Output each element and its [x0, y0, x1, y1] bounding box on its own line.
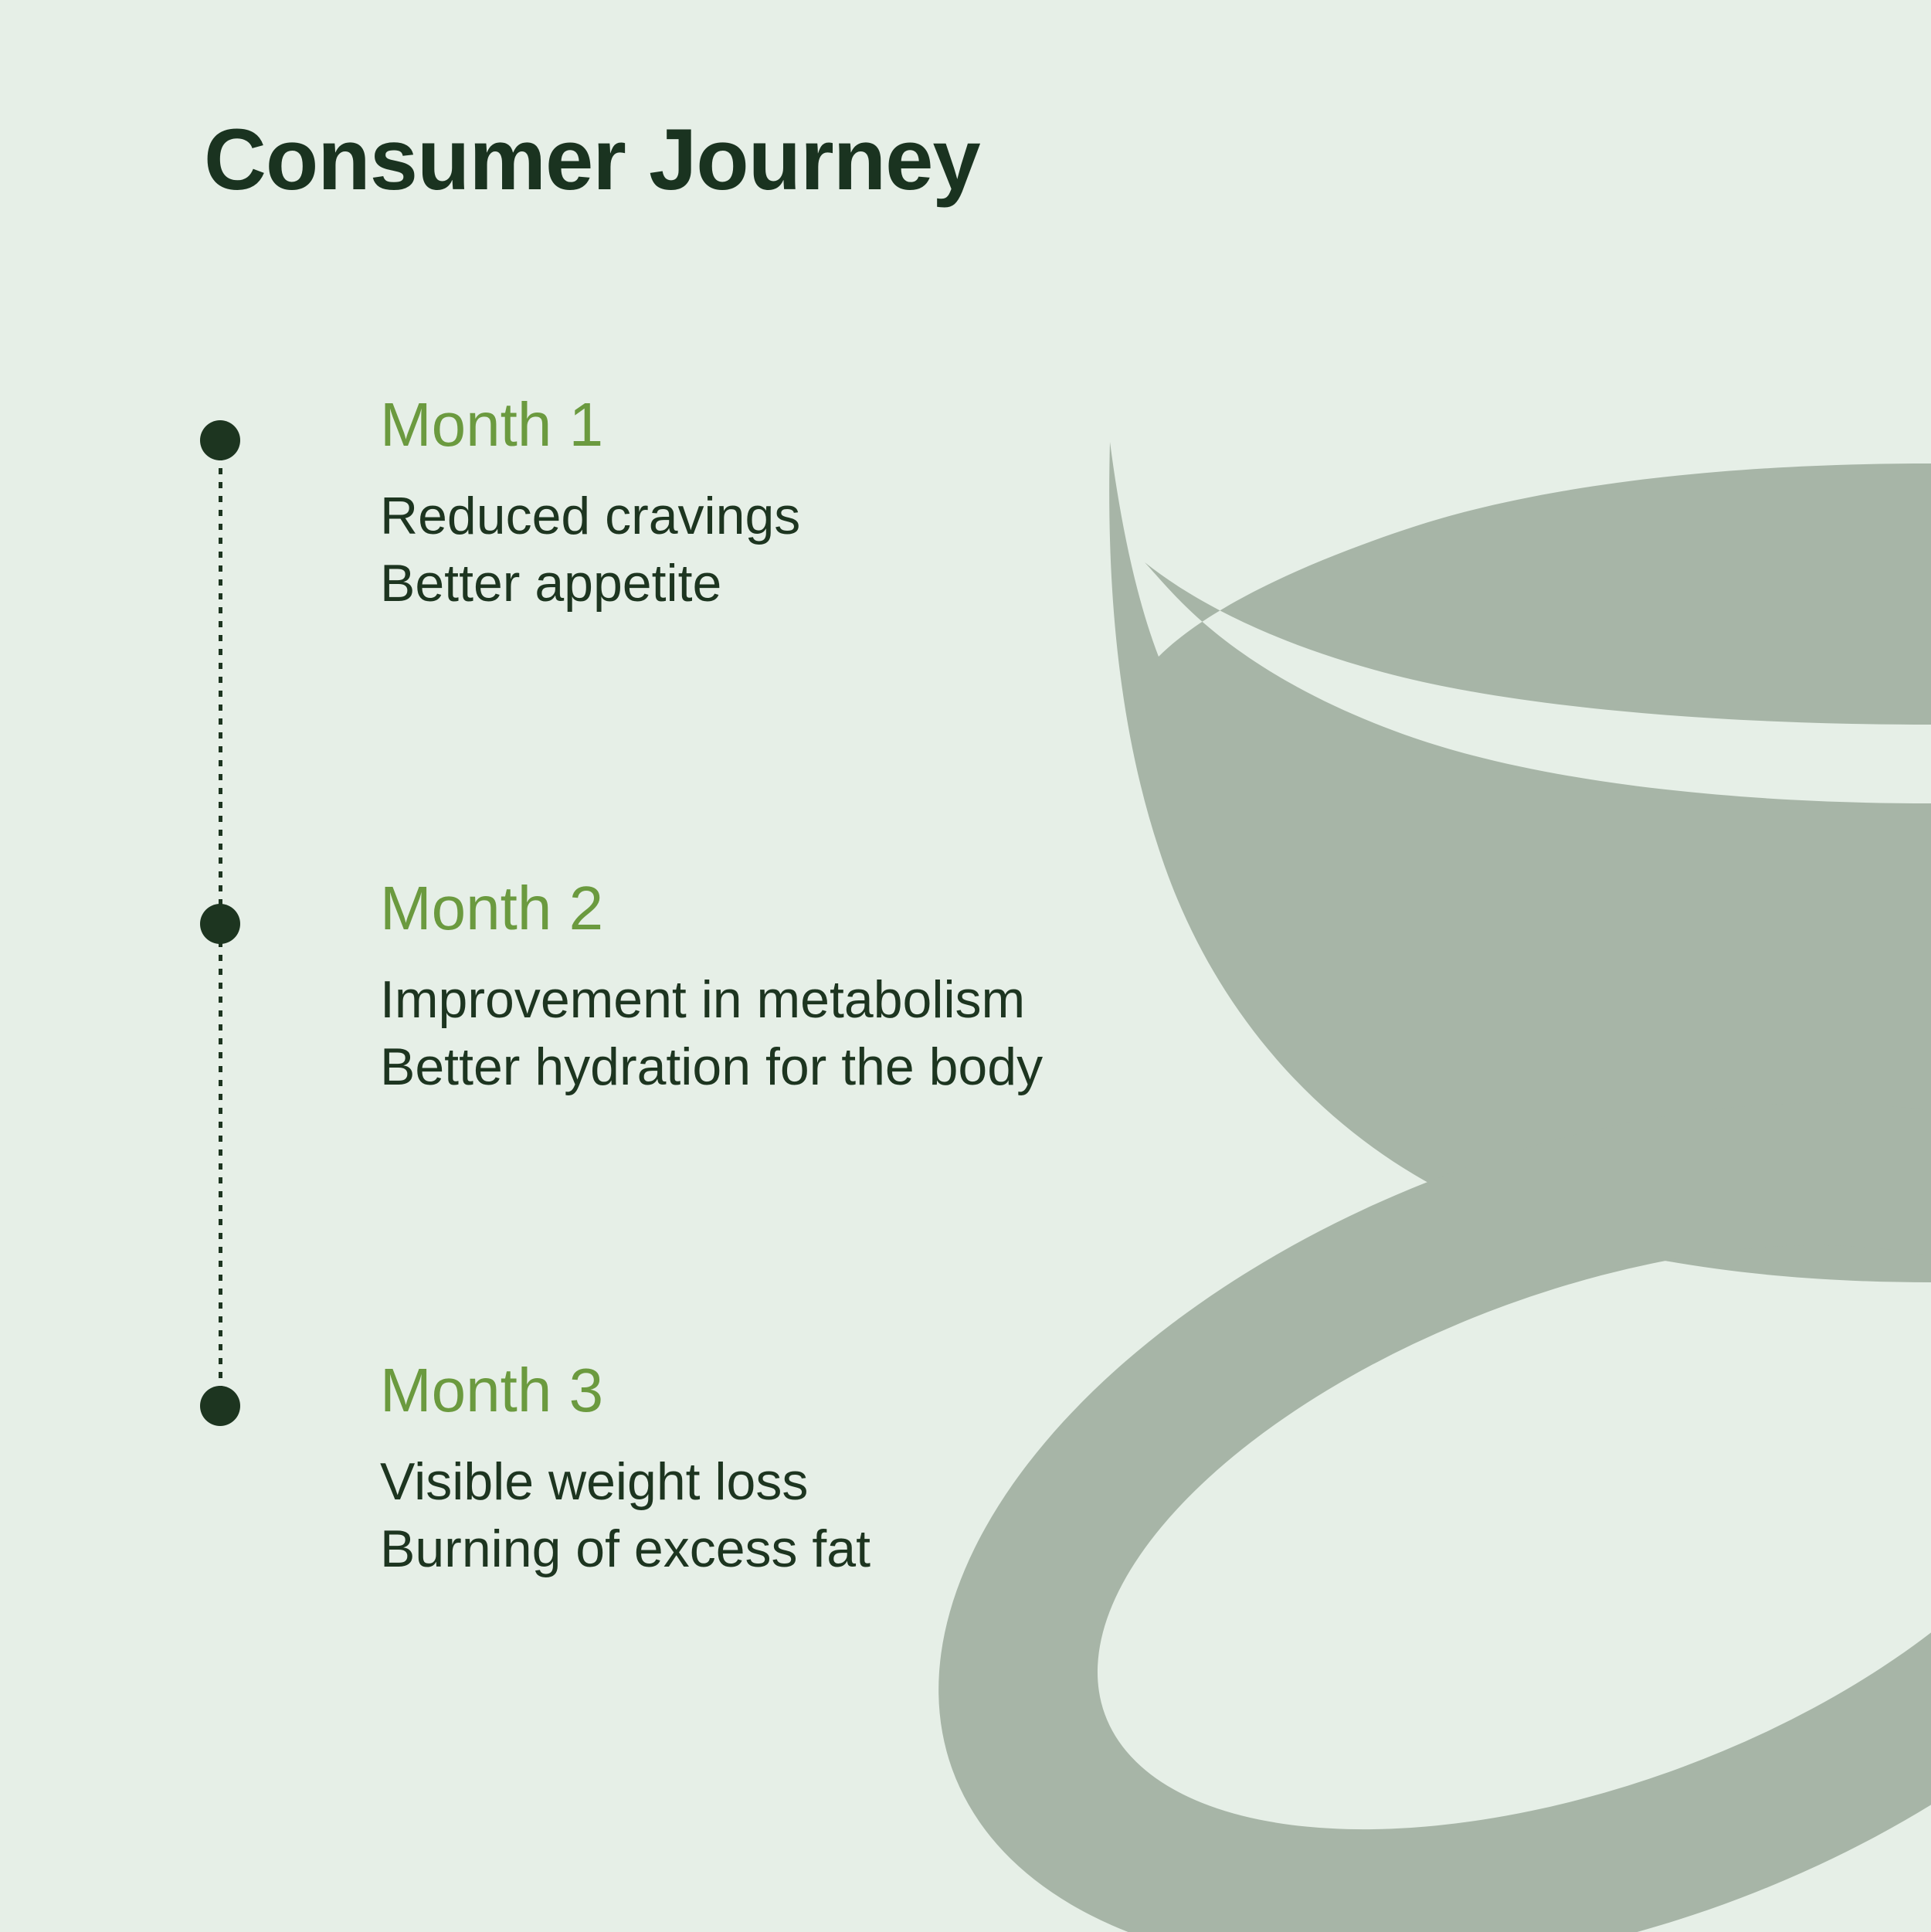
timeline-entry-month-1: Month 1 Reduced cravings Better appetite — [380, 394, 800, 611]
page-title: Consumer Journey — [204, 114, 980, 205]
timeline-entry-line: Reduced cravings — [380, 490, 800, 543]
timeline-entry-heading: Month 1 — [380, 394, 800, 456]
timeline-marker-dot-3[interactable] — [200, 1386, 240, 1426]
timeline-entry-line: Visible weight loss — [380, 1455, 870, 1509]
timeline-entry-body: Improvement in metabolism Better hydrati… — [380, 973, 1043, 1095]
timeline-entry-line: Better appetite — [380, 557, 800, 610]
timeline-entry-month-2: Month 2 Improvement in metabolism Better… — [380, 878, 1043, 1095]
timeline-entry-heading: Month 3 — [380, 1360, 870, 1421]
timeline-marker-dot-1[interactable] — [200, 420, 240, 460]
timeline-entry-line: Improvement in metabolism — [380, 973, 1043, 1027]
timeline-entry-body: Reduced cravings Better appetite — [380, 490, 800, 611]
timeline-entry-month-3: Month 3 Visible weight loss Burning of e… — [380, 1360, 870, 1577]
timeline-marker-dot-2[interactable] — [200, 904, 240, 944]
timeline-entry-line: Burning of excess fat — [380, 1523, 870, 1576]
timeline-entry-line: Better hydration for the body — [380, 1041, 1043, 1094]
timeline-entry-heading: Month 2 — [380, 878, 1043, 939]
timeline-entry-body: Visible weight loss Burning of excess fa… — [380, 1455, 870, 1577]
slide-canvas: Consumer Journey Month 1 Reduced craving… — [0, 0, 1931, 1932]
